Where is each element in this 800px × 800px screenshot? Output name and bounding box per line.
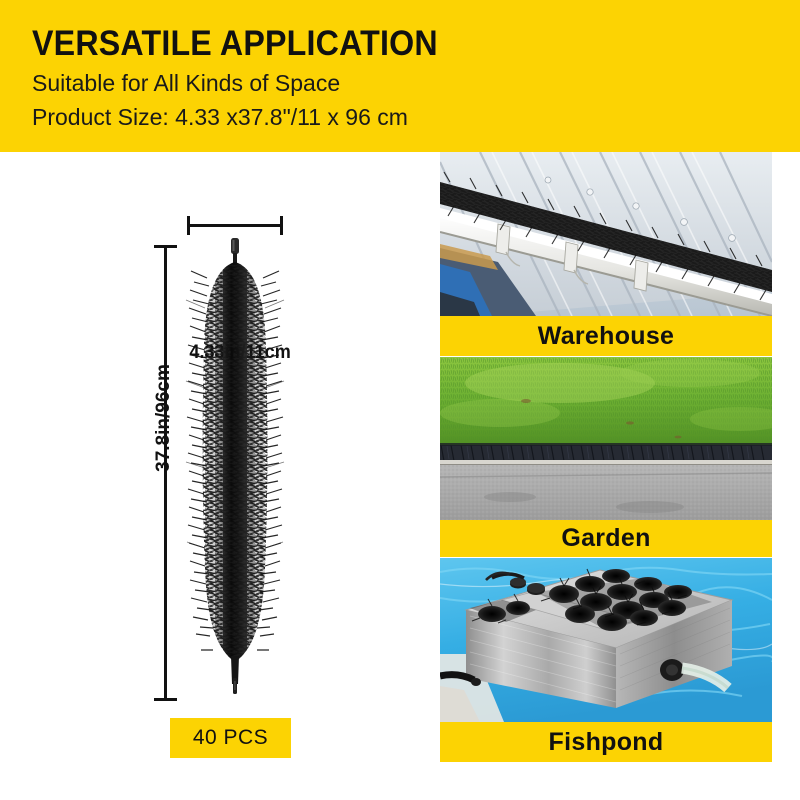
panel-caption-warehouse: Warehouse xyxy=(440,316,772,356)
width-dimension-cap-left xyxy=(187,216,190,235)
height-dimension-cap-bottom xyxy=(154,698,177,701)
lawn-edge-brush-photo xyxy=(440,357,772,520)
header-subtitle-line-2: Product Size: 4.33 x37.8"/11 x 96 cm xyxy=(32,102,800,132)
width-dimension-cap-right xyxy=(280,216,283,235)
pond-filter-box-photo xyxy=(440,558,772,722)
gutter-brush-in-roof-gutter-photo xyxy=(440,152,772,316)
height-dimension-cap-top xyxy=(154,245,177,248)
application-panel-fishpond: Fishpond xyxy=(440,558,772,762)
header-banner: VERSATILE APPLICATION Suitable for All K… xyxy=(0,0,800,152)
product-diagram-panel: 4.33in/11cm 37.8in/96cm xyxy=(0,152,435,800)
panel-caption-garden: Garden xyxy=(440,520,772,557)
page-title: VERSATILE APPLICATION xyxy=(32,24,739,64)
height-dimension-label: 37.8in/96cm xyxy=(153,364,175,472)
width-dimension-line xyxy=(187,224,283,227)
height-dimension-line xyxy=(164,245,167,700)
application-panel-warehouse: Warehouse xyxy=(440,152,772,356)
lawn-edge-brush-strip xyxy=(440,443,772,461)
quantity-badge: 40 PCS xyxy=(170,718,291,758)
brush-bottom-stem xyxy=(231,656,239,694)
application-panels: Warehouse xyxy=(440,152,772,762)
application-panel-garden: Garden xyxy=(440,357,772,557)
brush-top-eyelet xyxy=(231,238,239,265)
gutter-brush-icon xyxy=(185,238,285,700)
panel-caption-fishpond: Fishpond xyxy=(440,722,772,762)
header-subtitle-line-1: Suitable for All Kinds of Space xyxy=(32,68,800,98)
